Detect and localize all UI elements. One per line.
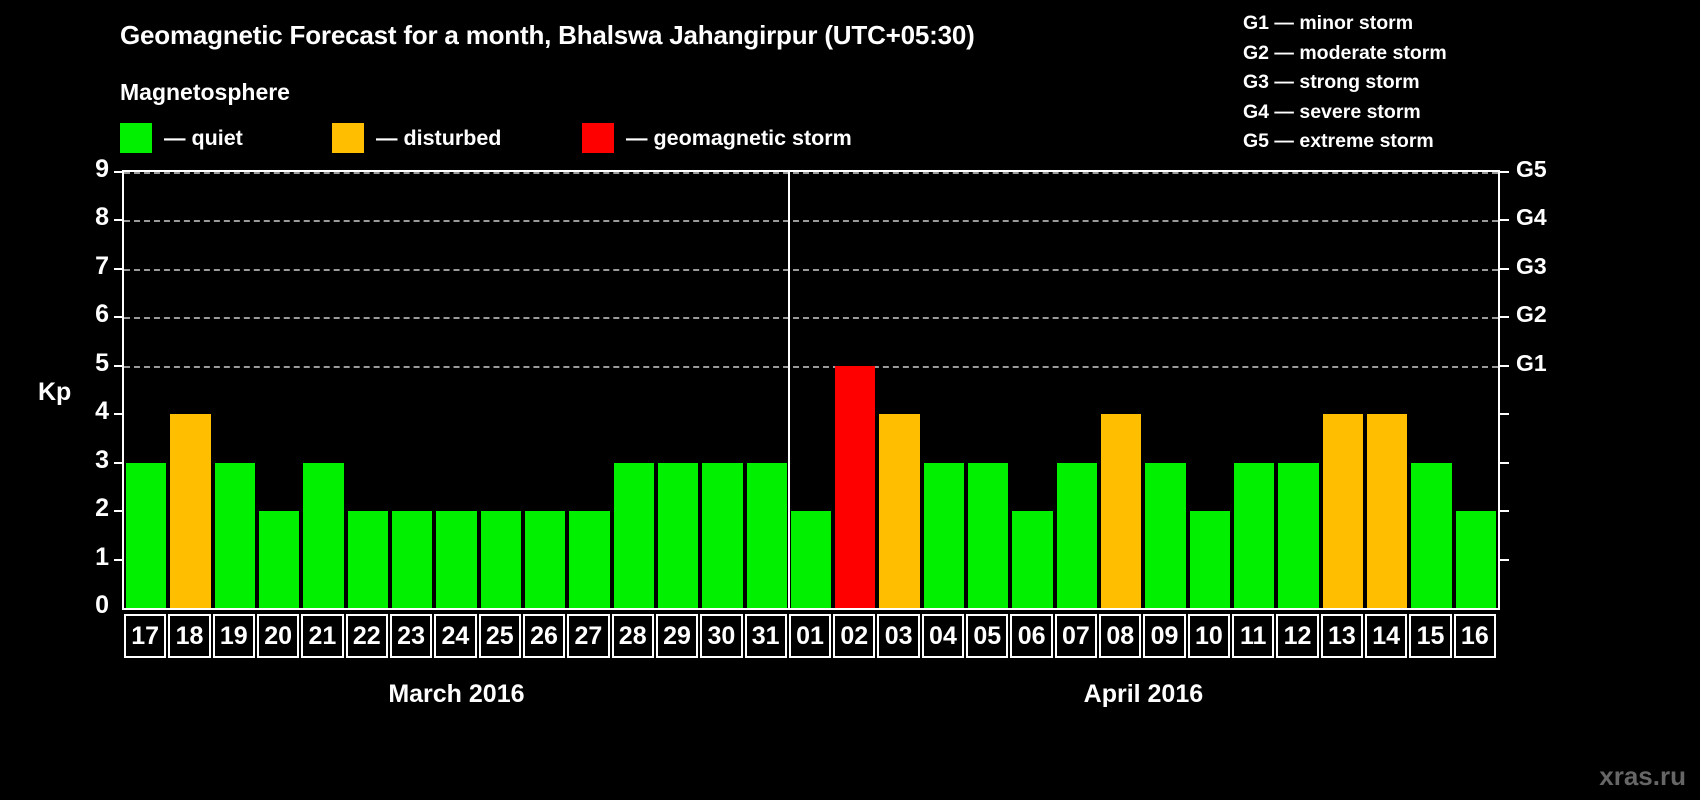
g-scale-legend-row: G4 — severe storm xyxy=(1243,98,1447,128)
y-tick-label: 2 xyxy=(75,494,109,523)
g-scale-legend-row: G1 — minor storm xyxy=(1243,9,1447,39)
g-tick-mark xyxy=(1500,316,1509,318)
bar xyxy=(1057,463,1097,608)
g-tick-label: G4 xyxy=(1516,204,1576,231)
date-cell: 15 xyxy=(1409,614,1451,658)
bar xyxy=(791,511,831,608)
month-caption: April 2016 xyxy=(789,680,1498,709)
g-tick-mark xyxy=(1500,219,1509,221)
bar xyxy=(747,463,787,608)
plot-area xyxy=(122,170,1500,610)
legend-entry: — geomagnetic storm xyxy=(582,122,852,154)
watermark: xras.ru xyxy=(1599,761,1686,792)
bar xyxy=(614,463,654,608)
g-tick-label: G1 xyxy=(1516,350,1576,377)
bar xyxy=(348,511,388,608)
date-cell: 10 xyxy=(1188,614,1230,658)
y-tick-label: 3 xyxy=(75,446,109,475)
magnetosphere-label: Magnetosphere xyxy=(120,79,290,106)
bar xyxy=(1234,463,1274,608)
date-cell: 28 xyxy=(612,614,654,658)
bar xyxy=(259,511,299,608)
bar xyxy=(1323,414,1363,608)
legend-color-swatch xyxy=(582,123,614,153)
legend-label: — quiet xyxy=(164,126,243,151)
bar xyxy=(968,463,1008,608)
legend-color-swatch xyxy=(332,123,364,153)
y-tick-label: 6 xyxy=(75,300,109,329)
y-axis-title: Kp xyxy=(38,378,71,407)
bar xyxy=(1456,511,1496,608)
month-caption: March 2016 xyxy=(124,680,789,709)
bar xyxy=(215,463,255,608)
g-tick-mark xyxy=(1500,268,1509,270)
bar xyxy=(436,511,476,608)
legend-label: — geomagnetic storm xyxy=(626,126,852,151)
y-tick-label: 7 xyxy=(75,252,109,281)
bar xyxy=(1411,463,1451,608)
bar xyxy=(481,511,521,608)
bar xyxy=(525,511,565,608)
bar xyxy=(1012,511,1052,608)
date-cell: 08 xyxy=(1099,614,1141,658)
date-cell: 29 xyxy=(656,614,698,658)
bar xyxy=(1101,414,1141,608)
bar xyxy=(303,463,343,608)
date-cell: 12 xyxy=(1276,614,1318,658)
g-tick-mark xyxy=(1500,413,1509,415)
bar xyxy=(835,366,875,608)
date-cell: 17 xyxy=(124,614,166,658)
date-cell: 13 xyxy=(1321,614,1363,658)
g-tick-mark xyxy=(1500,462,1509,464)
date-cell: 05 xyxy=(966,614,1008,658)
date-cell: 03 xyxy=(877,614,919,658)
y-tick-label: 8 xyxy=(75,203,109,232)
legend-color-swatch xyxy=(120,123,152,153)
date-cell: 06 xyxy=(1010,614,1052,658)
g-tick-label: G5 xyxy=(1516,156,1576,183)
date-cell: 24 xyxy=(434,614,476,658)
date-cell: 31 xyxy=(745,614,787,658)
date-cell: 09 xyxy=(1143,614,1185,658)
bar xyxy=(1367,414,1407,608)
bar xyxy=(1190,511,1230,608)
bar xyxy=(1145,463,1185,608)
bar xyxy=(1278,463,1318,608)
date-cell: 23 xyxy=(390,614,432,658)
g-scale-legend-row: G2 — moderate storm xyxy=(1243,39,1447,69)
date-cell: 18 xyxy=(168,614,210,658)
legend-label: — disturbed xyxy=(376,126,501,151)
g-tick-mark xyxy=(1500,171,1509,173)
date-cell: 04 xyxy=(922,614,964,658)
date-cell: 16 xyxy=(1454,614,1496,658)
bar xyxy=(126,463,166,608)
date-cell: 14 xyxy=(1365,614,1407,658)
date-cell: 20 xyxy=(257,614,299,658)
page-title: Geomagnetic Forecast for a month, Bhalsw… xyxy=(120,20,975,51)
y-tick-label: 5 xyxy=(75,349,109,378)
bars-layer xyxy=(124,172,1498,608)
bar xyxy=(924,463,964,608)
date-cell: 27 xyxy=(567,614,609,658)
legend-entry: — quiet xyxy=(120,122,243,154)
legend-entry: — disturbed xyxy=(332,122,501,154)
g-scale-legend-row: G3 — strong storm xyxy=(1243,68,1447,98)
date-cell: 21 xyxy=(301,614,343,658)
date-cell: 07 xyxy=(1055,614,1097,658)
date-cell: 01 xyxy=(789,614,831,658)
g-scale-legend: G1 — minor stormG2 — moderate stormG3 — … xyxy=(1243,9,1447,157)
date-cell: 11 xyxy=(1232,614,1274,658)
y-tick-label: 4 xyxy=(75,397,109,426)
g-tick-mark xyxy=(1500,365,1509,367)
bar xyxy=(170,414,210,608)
g-tick-label: G2 xyxy=(1516,301,1576,328)
y-tick-label: 1 xyxy=(75,543,109,572)
bar xyxy=(702,463,742,608)
g-tick-mark xyxy=(1500,510,1509,512)
bar xyxy=(569,511,609,608)
date-cell: 19 xyxy=(213,614,255,658)
date-cell: 26 xyxy=(523,614,565,658)
date-cell: 25 xyxy=(479,614,521,658)
y-tick-label: 0 xyxy=(75,591,109,620)
bar xyxy=(392,511,432,608)
bar xyxy=(879,414,919,608)
bar xyxy=(658,463,698,608)
g-tick-mark xyxy=(1500,559,1509,561)
date-cell: 30 xyxy=(700,614,742,658)
date-cell: 22 xyxy=(346,614,388,658)
date-cell: 02 xyxy=(833,614,875,658)
g-tick-label: G3 xyxy=(1516,253,1576,280)
y-tick-label: 9 xyxy=(75,155,109,184)
g-scale-legend-row: G5 — extreme storm xyxy=(1243,127,1447,157)
